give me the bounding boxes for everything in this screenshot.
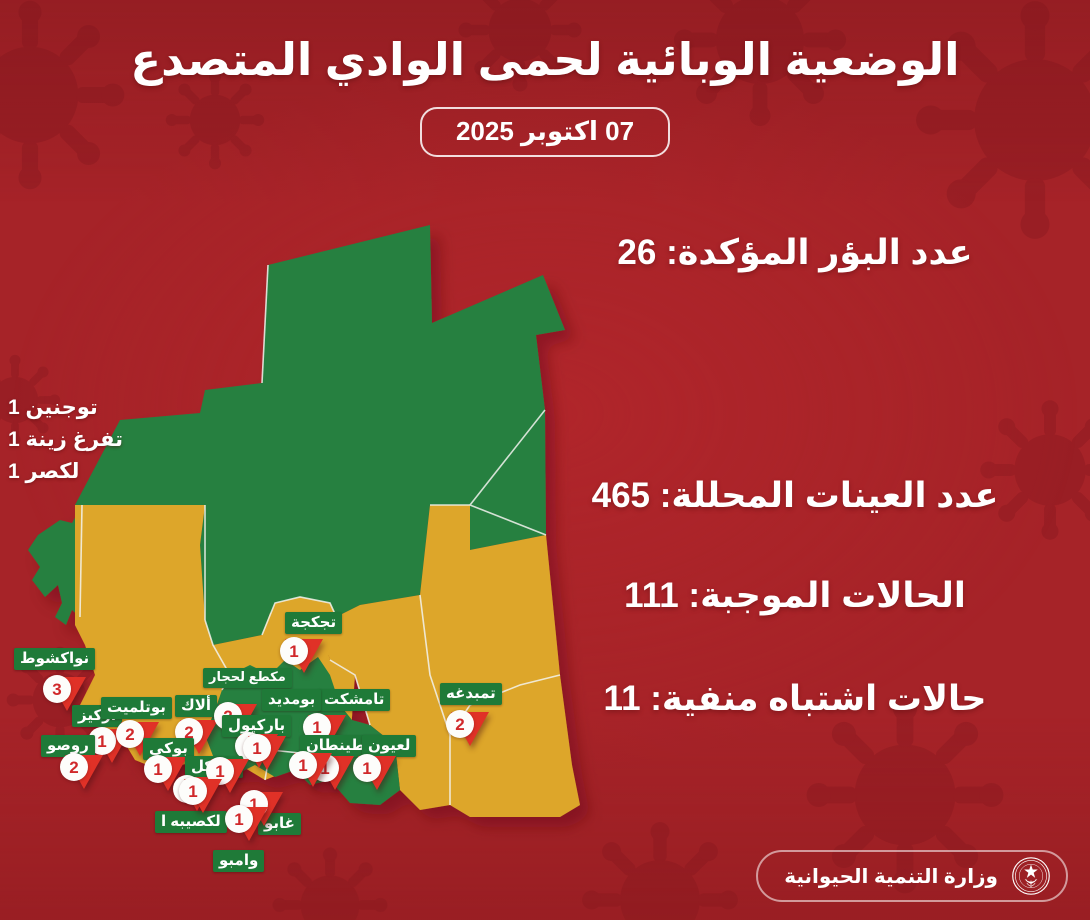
side-note-leksar: لكصر 1 — [8, 456, 148, 488]
national-emblem-icon — [1012, 857, 1050, 895]
ministry-name: وزارة التنمية الحيوانية — [784, 864, 998, 889]
date-badge: 07 اكتوبر 2025 — [420, 107, 670, 157]
stat-positive-cases: الحالات الموجبة: 111 — [510, 575, 1080, 616]
header: الوضعية الوبائية لحمى الوادي المتصدع 07 … — [0, 0, 1090, 157]
page-title: الوضعية الوبائية لحمى الوادي المتصدع — [0, 33, 1090, 88]
stat-negative-suspects: حالات اشتباه منفية: 11 — [510, 678, 1080, 719]
stat-confirmed-foci: عدد البؤر المؤكدة: 26 — [510, 232, 1080, 273]
statistics-panel: عدد البؤر المؤكدة: 26 عدد العينات المحلل… — [510, 222, 1080, 719]
side-note-list: توجنين 1 تفرغ زينة 1 لكصر 1 — [8, 392, 148, 488]
stat-analyzed-samples: عدد العينات المحللة: 465 — [510, 475, 1080, 516]
map-regions — [28, 225, 580, 817]
ministry-footer-badge: وزارة التنمية الحيوانية — [756, 850, 1068, 902]
side-note-toujounine: توجنين 1 — [8, 392, 148, 424]
side-note-tevragh-zeina: تفرغ زينة 1 — [8, 424, 148, 456]
